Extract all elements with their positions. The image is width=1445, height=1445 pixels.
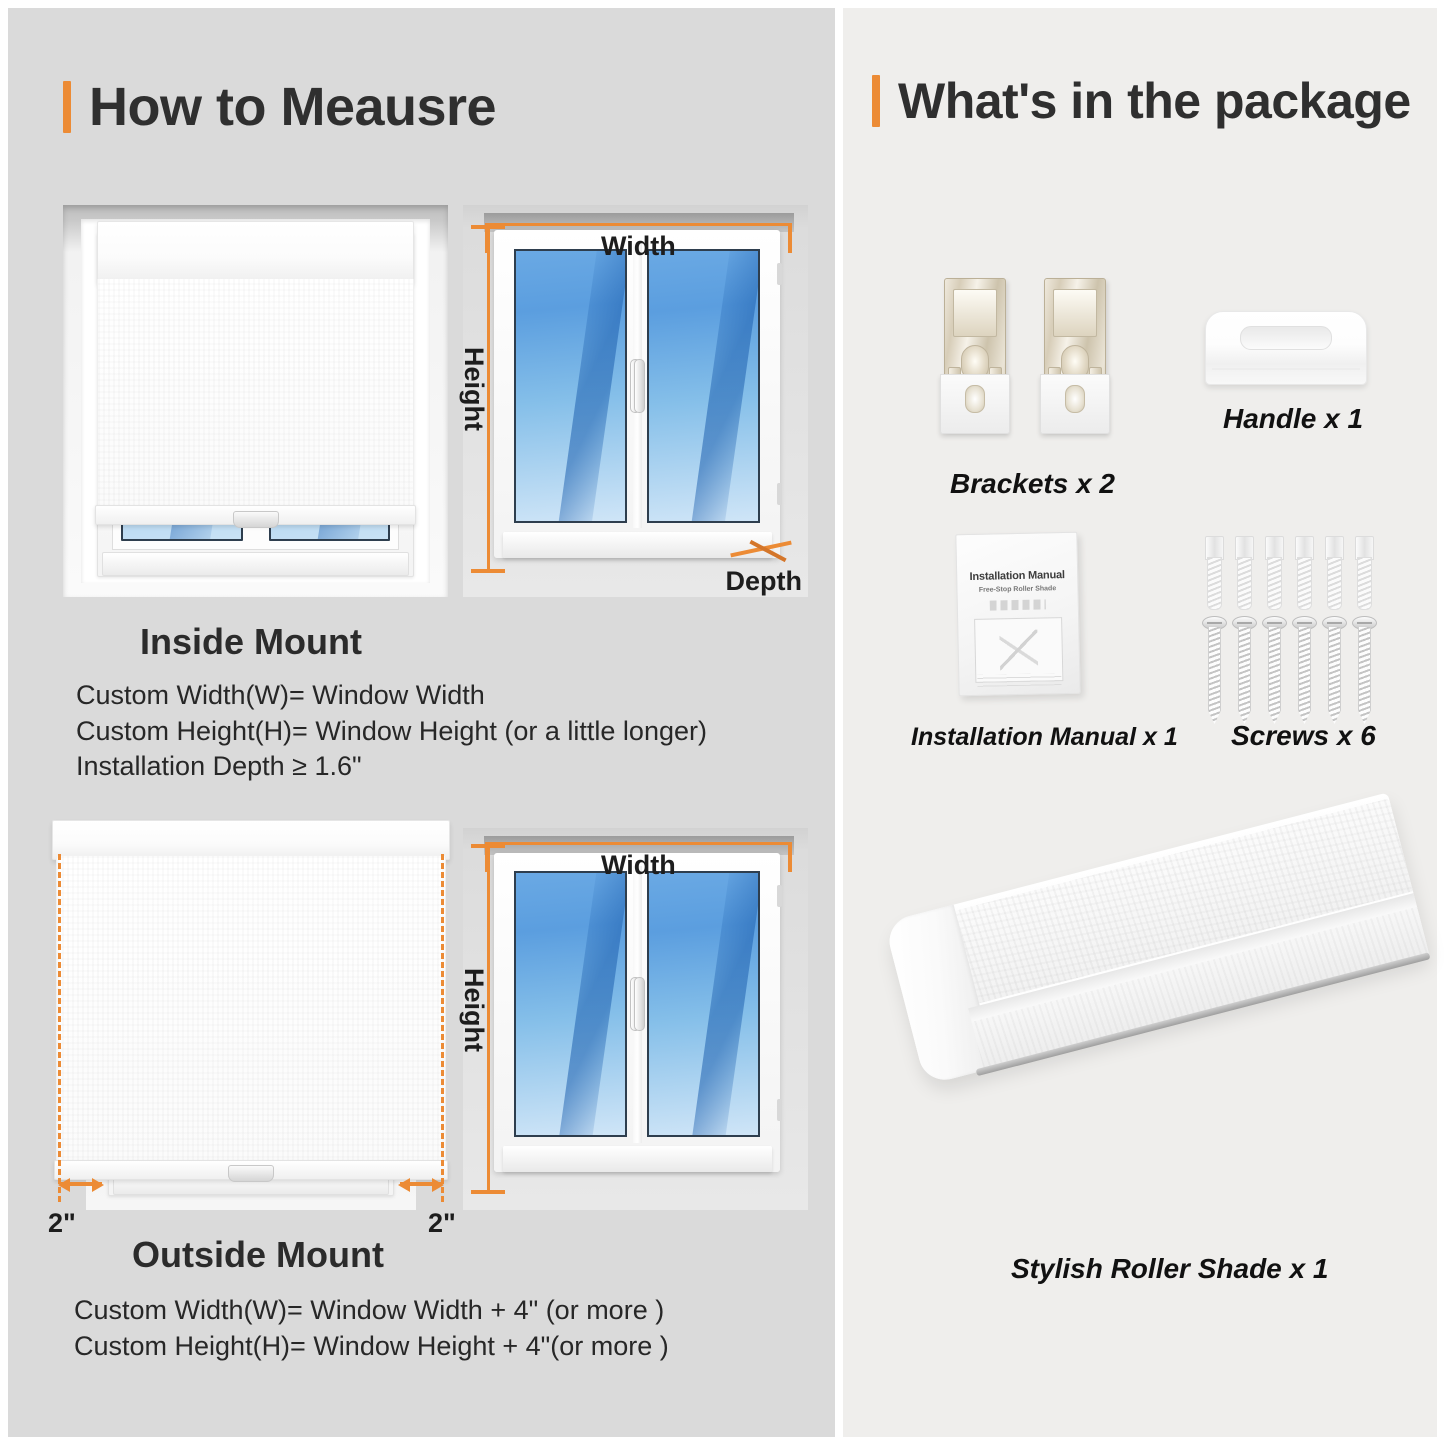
package-contents-panel: What's in the package Brackets x 2 Handl… [843, 8, 1437, 1437]
inside-mount-line-3: Installation Depth ≥ 1.6" [76, 749, 707, 785]
height-label: Height [458, 968, 489, 1052]
window-handle-right-icon [634, 977, 645, 1031]
window-pane-left [514, 871, 627, 1137]
wall-anchor-2 [1235, 536, 1252, 608]
inside-mount-line-1: Custom Width(W)= Window Width [76, 678, 707, 714]
bracket-screw-hole-1 [965, 385, 985, 413]
brackets-item [938, 278, 1118, 458]
shade-fabric [56, 856, 446, 1164]
shade-bottom-bar [95, 505, 416, 525]
shade-pull-handle[interactable] [233, 511, 279, 528]
manual-cover-title: Installation Manual [957, 569, 1077, 584]
window-hinge-bottom-icon [777, 483, 782, 505]
inside-mount-title: Inside Mount [140, 621, 362, 663]
manual-cover-footer [977, 673, 1061, 687]
screw-shank [1208, 627, 1221, 724]
installation-manual-booklet: Installation Manual Free-Stop Roller Sha… [955, 532, 1080, 697]
height-tick-bottom [471, 569, 505, 573]
roller-shade-label: Stylish Roller Shade x 1 [1011, 1253, 1328, 1285]
anchor-body [1267, 557, 1282, 610]
shade-headrail [97, 221, 414, 283]
accent-bar-icon [872, 75, 880, 127]
infographic-page: How to Meausre [0, 0, 1445, 1445]
screw-shank [1238, 627, 1251, 724]
shade-headrail [52, 820, 450, 860]
anchor-body [1207, 557, 1222, 610]
screw-shank [1298, 627, 1311, 724]
manual-cover-scribble [990, 599, 1046, 610]
inside-mount-measure-diagram: Width Height Depth [463, 205, 808, 597]
overhang-arrowhead-right-start [398, 1178, 410, 1192]
overhang-guide-left [58, 854, 61, 1202]
screw-1 [1206, 616, 1221, 724]
wall-anchor-3 [1265, 536, 1282, 608]
overhang-guide-right [441, 854, 444, 1202]
shade-bottom-bar [54, 1160, 448, 1180]
inside-mount-line-2: Custom Height(H)= Window Height (or a li… [76, 714, 707, 750]
window-mullion [633, 244, 642, 529]
width-tick-right [788, 842, 792, 872]
overhang-arrowhead-left-start [58, 1178, 70, 1192]
width-tick-right [788, 223, 792, 253]
window-hinge-bottom-icon [777, 1099, 782, 1121]
screws-label: Screws x 6 [1231, 720, 1376, 752]
shade-pull-handle[interactable] [228, 1165, 274, 1182]
roller-shade-tube [884, 792, 1430, 1085]
window-sill [102, 552, 409, 576]
handle-part [1205, 311, 1367, 385]
window-handle-right-icon [634, 359, 645, 413]
depth-label: Depth [726, 566, 803, 597]
overhang-arrowhead-left-end [92, 1178, 104, 1192]
window-mullion [633, 866, 642, 1144]
window-pane-left [514, 249, 627, 522]
package-contents-heading: What's in the package [872, 75, 1411, 127]
width-label: Width [601, 231, 676, 262]
window-sash [508, 244, 766, 529]
outside-mount-line-1: Custom Width(W)= Window Width + 4" (or m… [74, 1293, 669, 1329]
window-sash [508, 866, 766, 1144]
window-sill [503, 1146, 772, 1172]
shade-fabric [97, 279, 414, 507]
package-contents-title: What's in the package [898, 76, 1411, 126]
wall-anchor-1 [1205, 536, 1222, 608]
anchor-body [1297, 557, 1312, 610]
outside-mount-title: Outside Mount [132, 1234, 384, 1276]
screw-4 [1296, 616, 1311, 724]
width-label: Width [601, 850, 676, 881]
window-hinge-top-icon [777, 885, 782, 907]
overhang-arrowhead-right-end [432, 1178, 444, 1192]
window-frame [494, 853, 780, 1172]
brackets-label: Brackets x 2 [950, 468, 1115, 500]
inside-mount-description: Custom Width(W)= Window Width Custom Hei… [76, 678, 707, 785]
bracket-foot-2 [1040, 374, 1110, 434]
window-frame [494, 230, 780, 557]
screw-5 [1326, 616, 1341, 724]
screw-shank [1358, 627, 1371, 724]
window-pane-right [647, 871, 760, 1137]
height-tick-bottom [471, 1190, 505, 1194]
outside-mount-shade-illustration [46, 820, 456, 1210]
outside-mount-description: Custom Width(W)= Window Width + 4" (or m… [74, 1293, 669, 1364]
screw-shank [1328, 627, 1341, 724]
screw-6 [1356, 616, 1371, 724]
screw-2 [1236, 616, 1251, 724]
bracket-screw-hole-2 [1065, 385, 1085, 413]
outside-mount-line-2: Custom Height(H)= Window Height + 4"(or … [74, 1329, 669, 1365]
width-dimension-line [485, 223, 792, 226]
window-hinge-top-icon [777, 263, 782, 285]
handle-label: Handle x 1 [1223, 403, 1363, 435]
overhang-label-left: 2" [48, 1208, 76, 1239]
window-pane-right [647, 249, 760, 522]
anchor-body [1327, 557, 1342, 610]
bracket-foot-1 [940, 374, 1010, 434]
inside-mount-shade-illustration [63, 205, 448, 597]
height-tick-top [471, 844, 505, 848]
width-dimension-line [485, 842, 792, 845]
how-to-measure-title: How to Meausre [89, 80, 496, 134]
height-label: Height [458, 347, 489, 431]
wall-anchor-5 [1325, 536, 1342, 608]
outside-mount-measure-diagram: Width Height [463, 828, 808, 1210]
screw-shank [1268, 627, 1281, 724]
how-to-measure-panel: How to Meausre [8, 8, 835, 1437]
accent-bar-icon [63, 81, 71, 133]
installation-manual-label: Installation Manual x 1 [911, 723, 1178, 752]
wall-anchor-4 [1295, 536, 1312, 608]
screws-item [1205, 536, 1390, 711]
wall-anchor-6 [1355, 536, 1372, 608]
anchor-body [1357, 557, 1372, 610]
overhang-label-right: 2" [428, 1208, 456, 1239]
screw-3 [1266, 616, 1281, 724]
height-tick-top [471, 225, 505, 229]
how-to-measure-heading: How to Meausre [63, 80, 496, 134]
manual-cover-subtitle: Free-Stop Roller Shade [957, 585, 1077, 595]
roller-shade-product-image [905, 868, 1425, 1198]
anchor-body [1237, 557, 1252, 610]
